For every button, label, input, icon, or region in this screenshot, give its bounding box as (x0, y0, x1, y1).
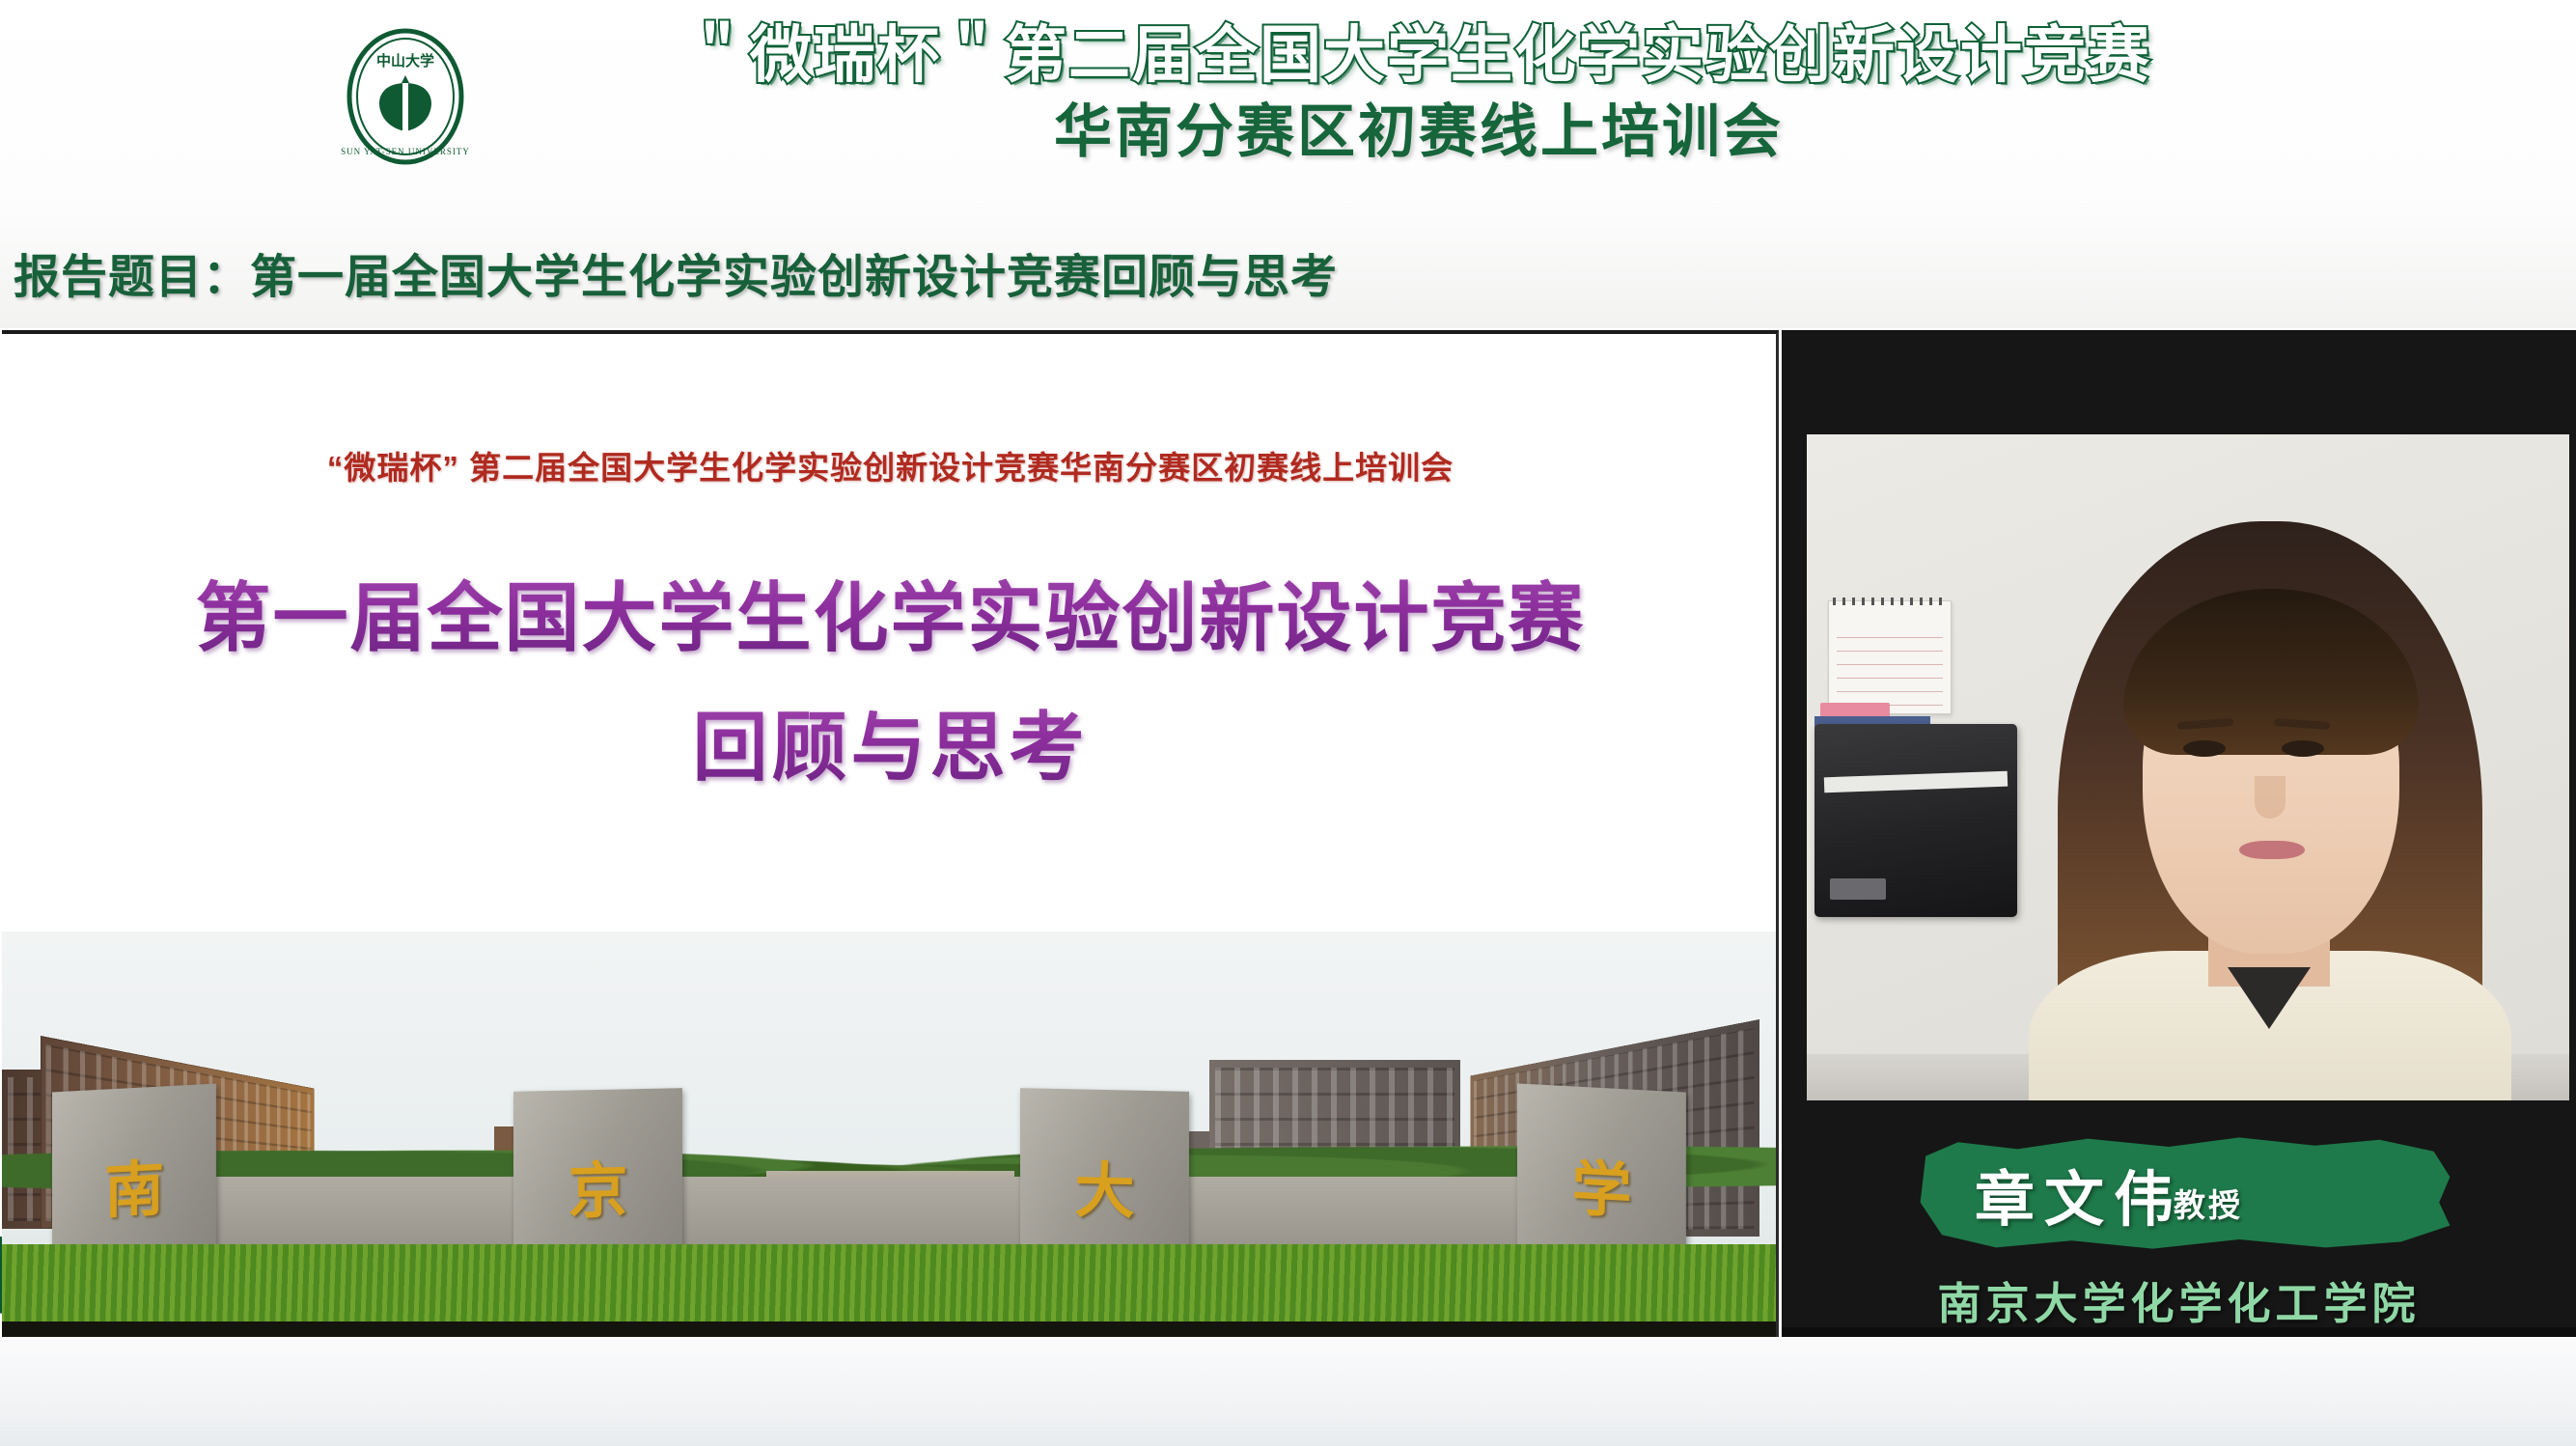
slide-subtitle: “微瑞杯” 第二届全国大学生化学实验创新设计竞赛华南分赛区初赛线上培训会 (2, 442, 1779, 488)
panel-bottom-strip (1782, 1327, 2576, 1337)
monument-character: 南 (104, 1139, 164, 1229)
presentation-page: 中山大学 SUN YAT-SEN UNIVERSITY ＂微瑞杯＂第二届全国大学… (0, 0, 2576, 1446)
speaker-video-feed[interactable] (1807, 434, 2569, 1100)
speaker-name: 章文伟 (1975, 1151, 2183, 1237)
photo-road (2, 1321, 1779, 1337)
banner-title-block: ＂微瑞杯＂第二届全国大学生化学实验创新设计竞赛 华南分赛区初赛线上培训会 (502, 21, 2336, 164)
university-seal-icon: 中山大学 SUN YAT-SEN UNIVERSITY (307, 27, 505, 167)
report-title-text: 报告题目：第一届全国大学生化学实验创新设计竞赛回顾与思考 (14, 238, 1338, 306)
eye-left (2183, 740, 2226, 757)
monument-character: 京 (568, 1141, 627, 1229)
office-printer (1814, 724, 2017, 917)
slide-title-line-1: 第一届全国大学生化学实验创新设计竞赛 (2, 558, 1779, 666)
banner-title-line-2: 华南分赛区初赛线上培训会 (502, 100, 2336, 164)
report-title-bar: 报告题目：第一届全国大学生化学实验创新设计竞赛回顾与思考 (14, 234, 1944, 311)
slide-title-line-2: 回顾与思考 (2, 687, 1779, 795)
speaker-video-panel[interactable]: 章文伟 教授 南京大学化学化工学院 (1782, 330, 2576, 1337)
speaker-affiliation: 南京大学化学化工学院 (1782, 1268, 2576, 1331)
eye-right (2282, 740, 2324, 757)
desk-calendar (1828, 600, 1952, 714)
speaker-name-banner: 章文伟 教授 南京大学化学化工学院 (1782, 1126, 2576, 1333)
svg-text:SUN YAT-SEN UNIVERSITY: SUN YAT-SEN UNIVERSITY (341, 147, 470, 156)
monument-character: 大 (1074, 1141, 1134, 1229)
page-bottom-area (0, 1337, 2576, 1446)
banner-title-line-1: ＂微瑞杯＂第二届全国大学生化学实验创新设计竞赛 (502, 21, 2336, 91)
nose (2255, 776, 2285, 819)
speaker-rank: 教授 (2174, 1180, 2243, 1226)
monument-character: 学 (1571, 1139, 1631, 1229)
mouth (2239, 841, 2305, 859)
shared-slide-view[interactable]: “微瑞杯” 第二届全国大学生化学实验创新设计竞赛华南分赛区初赛线上培训会 第一届… (2, 330, 1779, 1337)
photo-grass (2, 1244, 1779, 1323)
event-header: 中山大学 SUN YAT-SEN UNIVERSITY ＂微瑞杯＂第二届全国大学… (0, 0, 2576, 328)
campus-photo: 南 京 大 学 (2, 932, 1779, 1337)
speaker-portrait (2019, 483, 2521, 1100)
svg-text:中山大学: 中山大学 (376, 52, 434, 70)
